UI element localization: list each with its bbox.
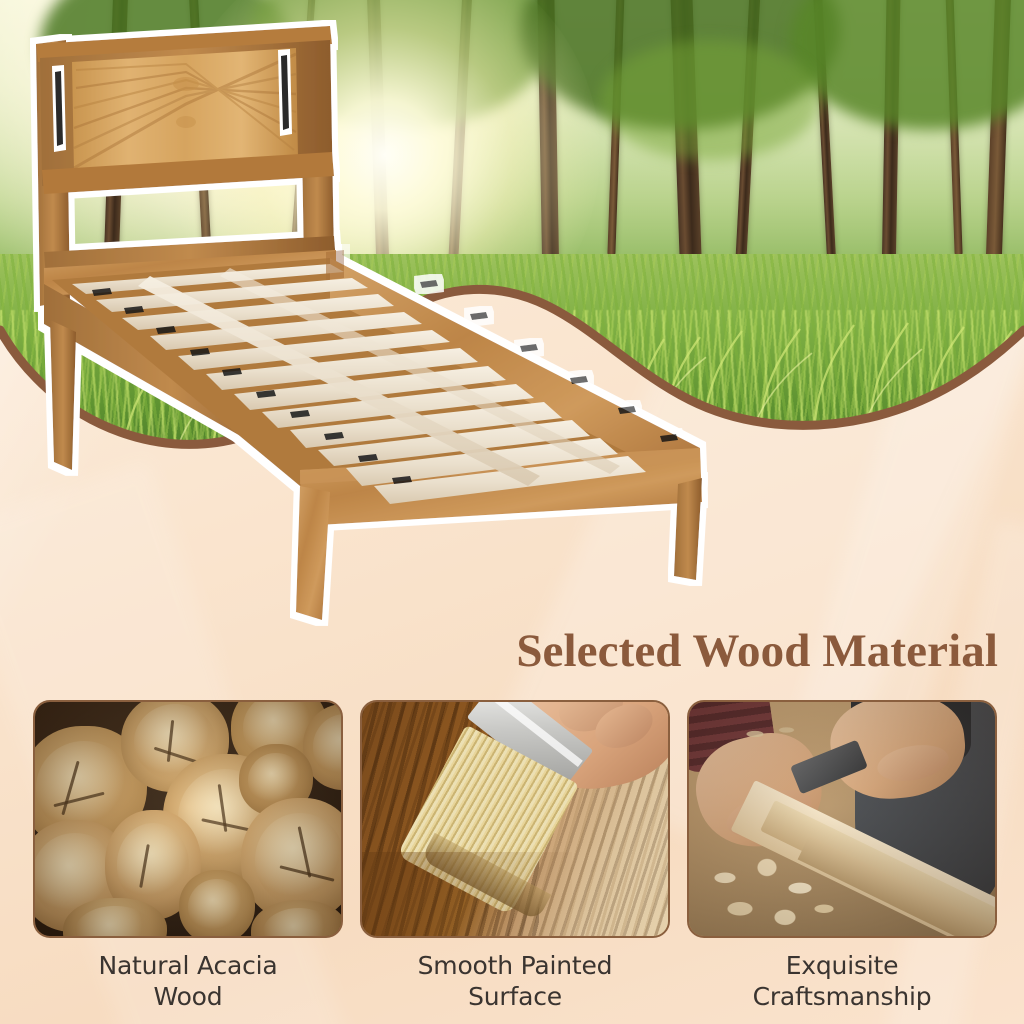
page-title: Selected Wood Material bbox=[0, 628, 1024, 675]
caption-smooth-painted-surface: Smooth Painted Surface bbox=[360, 950, 670, 1012]
leg-front-left bbox=[50, 320, 76, 470]
paint-brush-photo bbox=[362, 702, 668, 936]
feature-card-row bbox=[33, 700, 997, 938]
feature-card-natural-acacia-wood[interactable] bbox=[33, 700, 343, 938]
bed-frame bbox=[44, 250, 702, 526]
infographic-canvas: Selected Wood Material bbox=[0, 0, 1024, 1024]
caption-line: Surface bbox=[360, 981, 670, 1012]
caption-exquisite-craftsmanship: Exquisite Craftsmanship bbox=[687, 950, 997, 1012]
leg-foot-right bbox=[674, 478, 702, 580]
logs-photo bbox=[35, 702, 341, 936]
caption-line: Wood bbox=[33, 981, 343, 1012]
bed-geometry bbox=[36, 26, 702, 620]
leg-front-center bbox=[296, 486, 330, 620]
caption-line: Smooth Painted bbox=[360, 950, 670, 981]
caption-line: Exquisite bbox=[687, 950, 997, 981]
feature-caption-row: Natural Acacia Wood Smooth Painted Surfa… bbox=[33, 950, 997, 1012]
feature-card-smooth-painted-surface[interactable] bbox=[360, 700, 670, 938]
product-image-platform-bed bbox=[0, 0, 760, 640]
caption-line: Craftsmanship bbox=[687, 981, 997, 1012]
caption-line: Natural Acacia bbox=[33, 950, 343, 981]
craftsmanship-photo bbox=[689, 702, 995, 936]
caption-natural-acacia-wood: Natural Acacia Wood bbox=[33, 950, 343, 1012]
feature-card-exquisite-craftsmanship[interactable] bbox=[687, 700, 997, 938]
